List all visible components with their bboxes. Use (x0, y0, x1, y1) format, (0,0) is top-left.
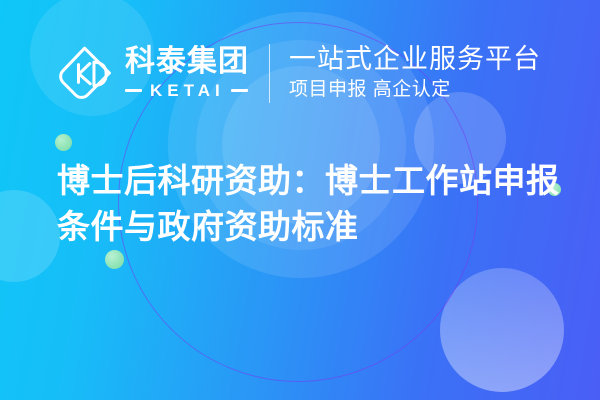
title-line-1: 博士后科研资助：博士工作站申报 (57, 158, 557, 204)
halo-circle-right-bottom (440, 268, 564, 392)
title-line-2: 条件与政府资助标准 (57, 204, 557, 250)
brand-name-en-row: KETAI (125, 82, 249, 99)
promo-banner: 科泰集团 KETAI 一站式企业服务平台 项目申报 高企认定 博士后科研资助：博… (0, 0, 600, 400)
tagline-sub: 项目申报 高企认定 (289, 80, 541, 101)
dot-green-upper-left (55, 134, 72, 151)
dash-left-icon (125, 89, 142, 92)
banner-title: 博士后科研资助：博士工作站申报 条件与政府资助标准 (57, 158, 557, 250)
dash-right-icon (231, 89, 248, 92)
ketai-kd-monogram-icon (56, 43, 116, 103)
brand-lockup[interactable]: 科泰集团 KETAI (56, 43, 249, 103)
banner-header: 科泰集团 KETAI 一站式企业服务平台 项目申报 高企认定 (0, 32, 600, 114)
tagline-main: 一站式企业服务平台 (289, 45, 541, 74)
halo-circle-left-edge (0, 190, 60, 282)
brand-name-en: KETAI (142, 82, 231, 99)
header-divider (269, 44, 270, 103)
tagline-block: 一站式企业服务平台 项目申报 高企认定 (289, 45, 541, 101)
brand-name-cn: 科泰集团 (125, 47, 249, 77)
dot-green-lower-left (105, 250, 124, 269)
brand-wordmark: 科泰集团 KETAI (125, 47, 249, 99)
